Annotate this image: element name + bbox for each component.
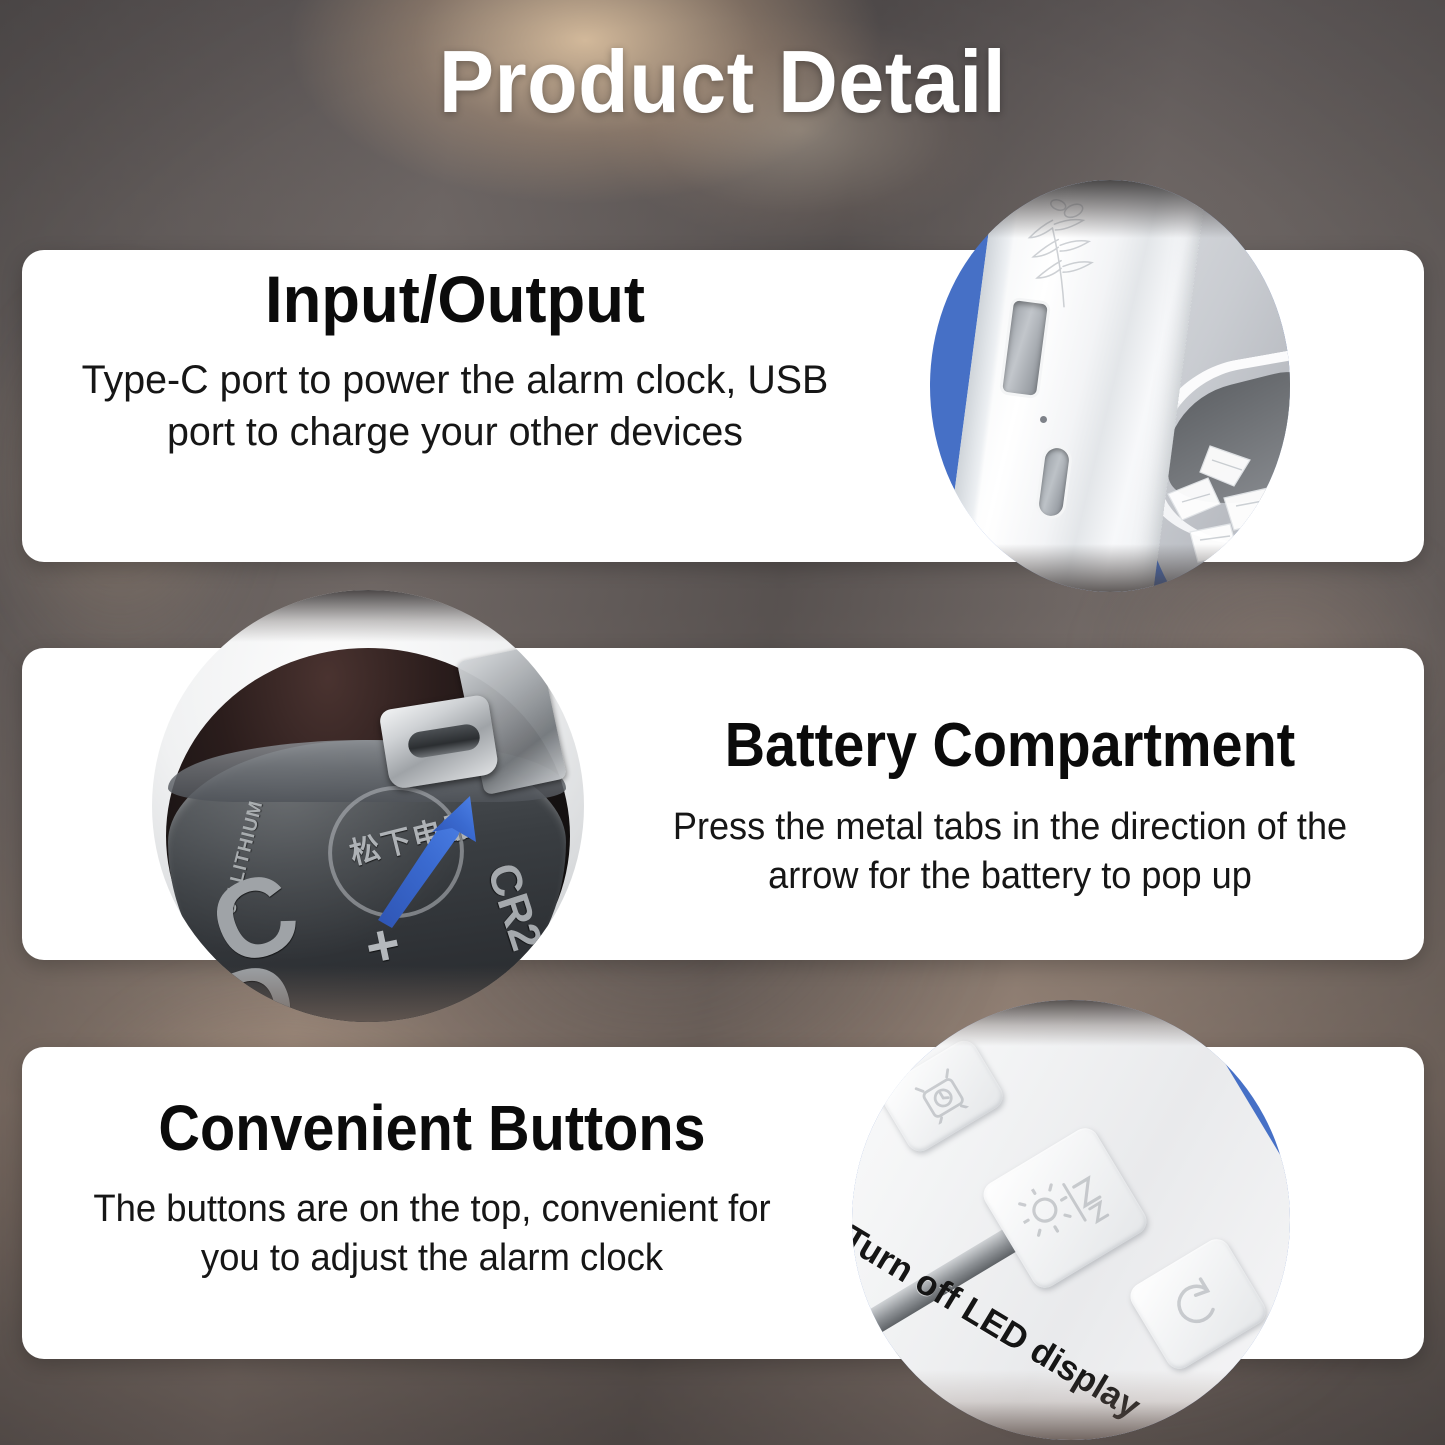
top-buttons-photo: Turn off LED display <box>852 1000 1290 1440</box>
feature-text-battery-compartment: Battery Compartment Press the metal tabs… <box>610 714 1410 900</box>
direction-arrow-icon <box>348 770 498 930</box>
feature-text-input-output: Input/Output Type-C port to power the al… <box>70 266 840 458</box>
feature-title: Battery Compartment <box>650 714 1370 777</box>
feature-description: Type-C port to power the alarm clock, US… <box>76 355 834 457</box>
feature-title: Convenient Buttons <box>99 1096 765 1161</box>
photo-top-shadow <box>852 1000 1290 1046</box>
photo-top-shadow <box>152 590 584 642</box>
ports-closeup-photo <box>930 180 1290 592</box>
feature-title: Input/Output <box>85 266 824 333</box>
feature-text-convenient-buttons: Convenient Buttons The buttons are on th… <box>62 1096 802 1283</box>
photo-bottom-shadow <box>152 966 584 1022</box>
battery-compartment-photo: 3V LITHIUM C D 松下电器 + CR2 <box>152 590 584 1022</box>
feature-description: Press the metal tabs in the direction of… <box>630 803 1390 900</box>
photo-bottom-shadow <box>930 544 1290 592</box>
product-detail-infographic: Product Detail <box>0 0 1445 1445</box>
reset-pinhole-icon <box>1040 416 1047 423</box>
photo-bottom-shadow <box>852 1370 1290 1440</box>
feature-description: The buttons are on the top, convenient f… <box>77 1185 787 1282</box>
photo-top-shadow <box>930 180 1290 238</box>
page-title: Product Detail <box>43 34 1401 129</box>
